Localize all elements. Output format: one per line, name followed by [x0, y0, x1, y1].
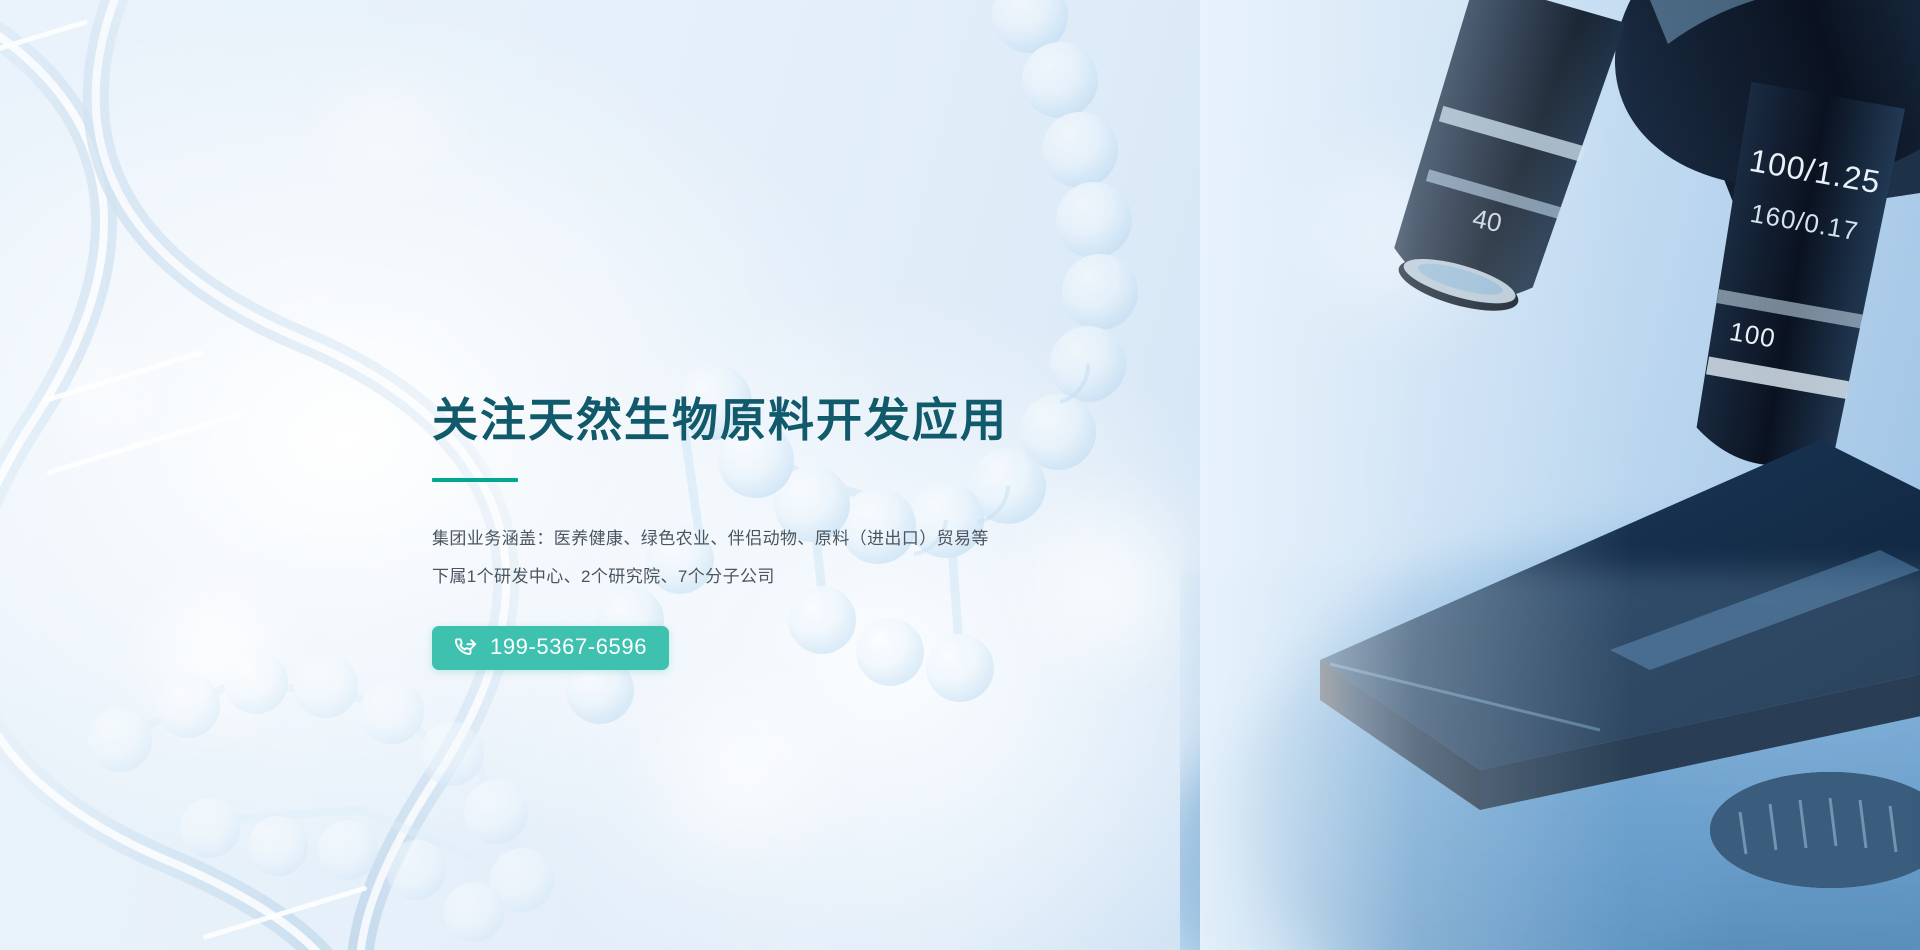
description-line-1: 集团业务涵盖：医养健康、绿色农业、伴侣动物、原料（进出口）贸易等	[432, 520, 1392, 558]
phone-forwarded-icon	[454, 636, 478, 660]
phone-number-label: 199-5367-6596	[490, 636, 647, 660]
phone-cta-button[interactable]: 199-5367-6596	[432, 626, 669, 670]
hero-description: 集团业务涵盖：医养健康、绿色农业、伴侣动物、原料（进出口）贸易等 下属1个研发中…	[432, 520, 1392, 596]
title-divider	[432, 478, 518, 482]
description-line-2: 下属1个研发中心、2个研究院、7个分子公司	[432, 558, 1392, 596]
page-title: 关注天然生物原料开发应用	[432, 395, 1392, 446]
hero-content: 关注天然生物原料开发应用 集团业务涵盖：医养健康、绿色农业、伴侣动物、原料（进出…	[432, 395, 1392, 670]
hero-banner: 40 100/1.25 160/0.17 100	[0, 0, 1920, 950]
